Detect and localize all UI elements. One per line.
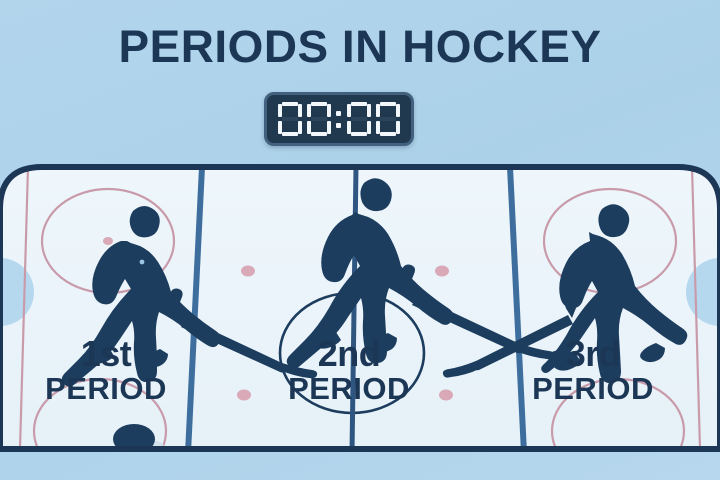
- period-3-ordinal: 3rd: [493, 336, 693, 372]
- faceoff-dot-neutral-top-left: [241, 266, 255, 277]
- faceoff-dot-left: [103, 237, 113, 245]
- period-2-word: PERIOD: [249, 372, 449, 406]
- clock-digit-2: [307, 102, 331, 136]
- infographic-canvas: PERIODS IN HOCKEY: [0, 0, 720, 480]
- faceoff-dot-neutral-top-right: [435, 266, 449, 277]
- hockey-rink: [0, 163, 720, 453]
- period-label-1: 1st PERIOD: [6, 336, 206, 406]
- clock-digit-1: [278, 102, 302, 136]
- period-label-3: 3rd PERIOD: [493, 336, 693, 406]
- period-label-2: 2nd PERIOD: [249, 336, 449, 406]
- period-1-ordinal: 1st: [6, 336, 206, 372]
- period-3-word: PERIOD: [493, 372, 693, 406]
- clock-digit-3: [347, 102, 371, 136]
- clock-digits: [278, 102, 400, 136]
- clock-colon-separator: [336, 102, 342, 136]
- period-2-ordinal: 2nd: [249, 336, 449, 372]
- scoreboard-clock: [264, 92, 414, 146]
- clock-digit-4: [376, 102, 400, 136]
- period-1-word: PERIOD: [6, 372, 206, 406]
- page-title: PERIODS IN HOCKEY: [0, 22, 720, 72]
